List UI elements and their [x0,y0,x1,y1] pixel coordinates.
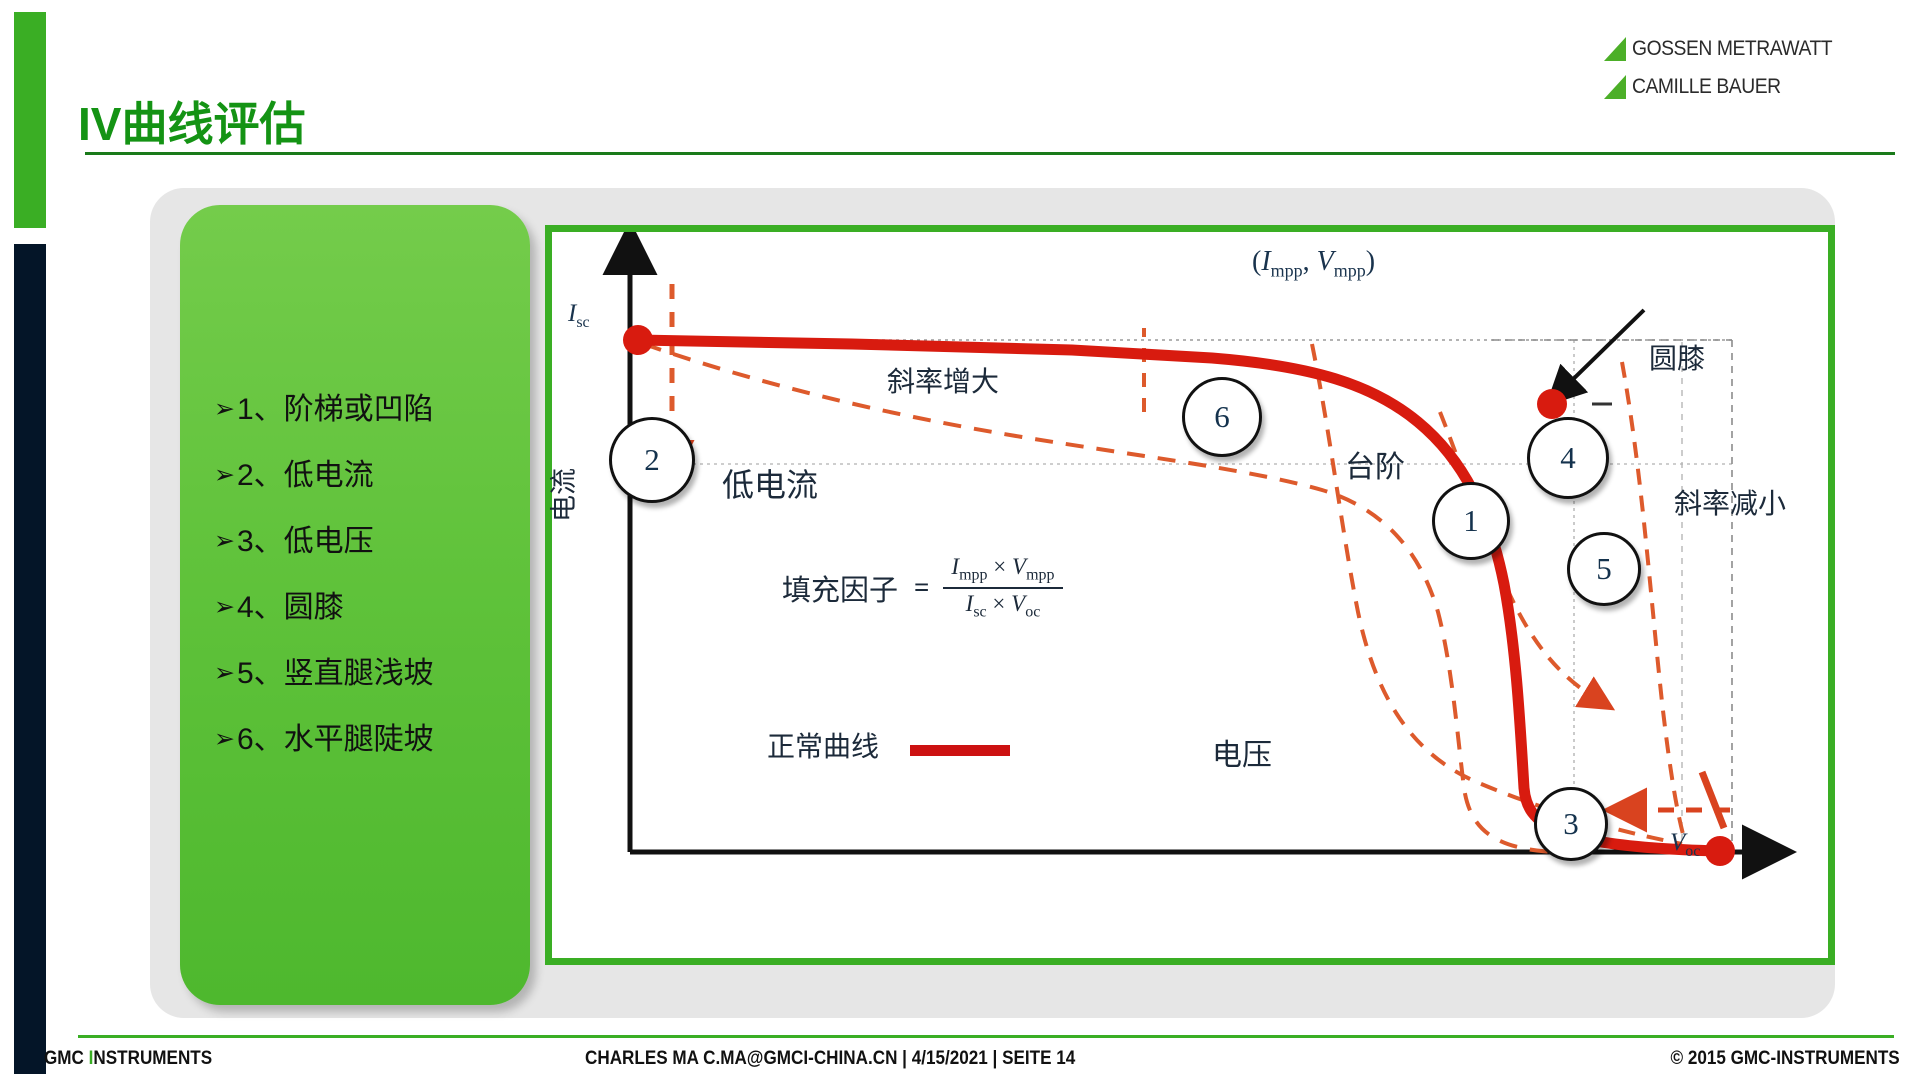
formula-numerator: Impp × Vmpp [943,552,1062,587]
annotation-step: 台阶 [1345,442,1405,486]
callout-circle-5[interactable]: 5 [1567,532,1641,606]
callout-circle-4[interactable]: 4 [1527,417,1609,499]
callout-circle-2[interactable]: 2 [609,417,695,503]
y-axis-label: 电流 [542,468,581,522]
sidebar-accent-navy [14,244,46,1074]
list-item-label: 6、水平腿陡坡 [237,725,434,755]
page-title: IV曲线评估 [78,88,305,154]
fault-list-card: ➢ 1、阶梯或凹陷 ➢ 2、低电流 ➢ 3、低电压 ➢ 4、圆膝 ➢ 5、竖直腿… [180,205,530,1005]
triangle-icon [1602,73,1628,101]
triangle-icon [1602,35,1628,63]
tick-voc-fault [1702,772,1724,828]
list-item: ➢ 6、水平腿陡坡 [214,725,520,755]
list-item-label: 4、圆膝 [237,593,344,623]
list-item: ➢ 1、阶梯或凹陷 [214,395,520,425]
footer-brand: GMC INSTRUMENTS [44,1048,212,1070]
logo-text-camille: CAMILLE BAUER [1632,75,1781,99]
list-item-label: 3、低电压 [237,527,374,557]
marker-mpp [1537,389,1567,419]
fault-curve-4 [1622,362,1684,838]
chart-canvas [552,232,1828,958]
list-item-label: 2、低电流 [237,461,374,491]
marker-isc [623,325,653,355]
footer-copyright: © 2015 GMC-INSTRUMENTS [1671,1048,1900,1070]
logo-row-camille: CAMILLE BAUER [1602,68,1902,106]
logo-text-gossen: GOSSEN METRAWATT [1632,37,1832,61]
chevron-right-icon: ➢ [214,527,235,555]
annotation-low-current: 低电流 [722,460,818,506]
chevron-right-icon: ➢ [214,593,235,621]
list-item: ➢ 2、低电流 [214,461,520,491]
footer-divider [78,1035,1894,1038]
fill-factor-formula: 填充因子 = Impp × Vmpp Isc × Voc [782,552,1063,623]
mpp-pointer-arrow [1560,310,1644,392]
callout-circle-3[interactable]: 3 [1534,787,1608,861]
annotation-slope-increase: 斜率增大 [887,360,999,400]
brand-logo: GOSSEN METRAWATT CAMILLE BAUER [1602,30,1902,106]
fault-list: ➢ 1、阶梯或凹陷 ➢ 2、低电流 ➢ 3、低电压 ➢ 4、圆膝 ➢ 5、竖直腿… [214,395,520,791]
iv-curve-chart: Isc Voc (Impp, Vmpp) 电流 电压 低电流 斜率增大 斜率减小… [545,225,1835,965]
formula-fraction: Impp × Vmpp Isc × Voc [943,552,1062,623]
label-mpp: (Impp, Vmpp) [1252,246,1375,282]
marker-voc [1705,836,1735,866]
legend-label: 正常曲线 [767,725,879,765]
chevron-right-icon: ➢ [214,659,235,687]
list-item: ➢ 4、圆膝 [214,593,520,623]
footer-meta: CHARLES MA C.MA@GMCI-CHINA.CN | 4/15/202… [585,1048,1075,1070]
chevron-right-icon: ➢ [214,461,235,489]
formula-equals: = [914,572,929,603]
annotation-slope-decrease: 斜率减小 [1674,482,1786,522]
chevron-right-icon: ➢ [214,725,235,753]
list-item-label: 5、竖直腿浅坡 [237,659,434,689]
list-item: ➢ 5、竖直腿浅坡 [214,659,520,689]
title-underline [85,152,1895,155]
list-item-label: 1、阶梯或凹陷 [237,395,434,425]
x-axis-label: 电压 [1212,730,1272,774]
list-item: ➢ 3、低电压 [214,527,520,557]
sidebar-accent-green [14,12,46,228]
label-voc: Voc [1670,829,1700,861]
label-isc: Isc [568,300,590,332]
callout-circle-6[interactable]: 6 [1182,377,1262,457]
formula-name: 填充因子 [782,567,898,609]
logo-row-gossen: GOSSEN METRAWATT [1602,30,1902,68]
legend-swatch [910,745,1010,756]
callout-circle-1[interactable]: 1 [1432,482,1510,560]
annotation-round-knee: 圆膝 [1649,337,1705,377]
chevron-right-icon: ➢ [214,395,235,423]
formula-denominator: Isc × Voc [958,589,1049,624]
